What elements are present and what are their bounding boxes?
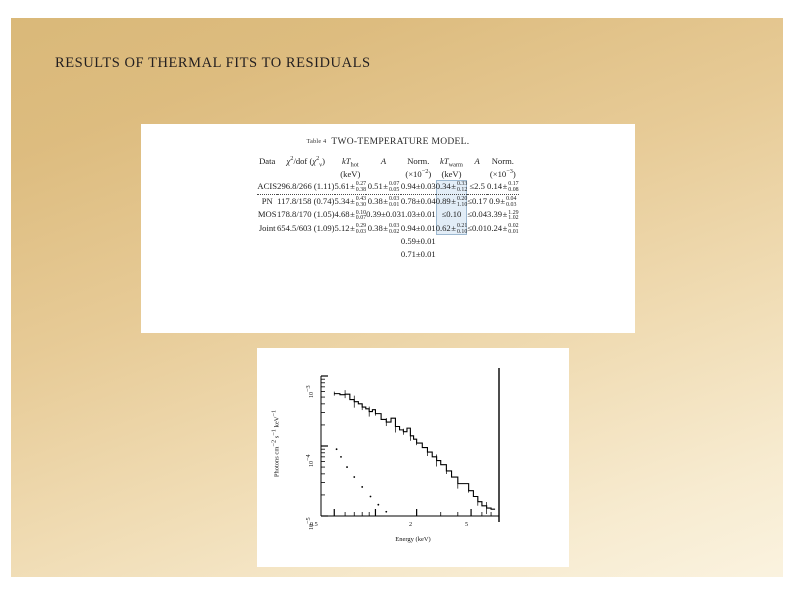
cell-norm-hot-extra: 0.71±0.01 [401,248,436,261]
cell-kt-hot: 5.34±0.430.30 [335,194,367,208]
cell-chi2: 178.8/170 (1.05) [277,208,335,222]
cell-empty [257,235,277,248]
table-separator-row: PN 117.8/158 (0.74) 5.34±0.430.30 0.38±0… [257,194,518,208]
page-margin-top [0,0,794,18]
page-margin-right [783,0,794,595]
cell-a-hot: 0.39±0.03 [366,208,401,222]
cell-kt-warm: 0.89±0.201.10 [436,194,468,208]
cell-kt-warm: 0.62±0.210.10 [436,222,468,236]
table-caption: Table 4TWO-TEMPERATURE MODEL. [141,131,635,149]
cell-empty [277,235,335,248]
spectrum-chart [257,348,569,567]
chart-xtick-1: 2 [409,521,412,528]
col-header-norm-warm-unit: (×10−3) [487,168,519,181]
table-row: MOS 178.8/170 (1.05) 4.68±0.100.07 0.39±… [257,208,518,222]
cell-data: ACIS [257,180,277,194]
cell-empty [277,248,335,261]
col-header-kt-warm: kTwarm (keV) [436,155,468,180]
cell-norm-hot-extra: 0.59±0.01 [401,235,436,248]
cell-a-warm: ≤0.04 [467,208,487,222]
col-header-norm-hot: Norm. (×10−2) [401,155,436,180]
cell-data: Joint [257,222,277,236]
cell-kt-warm: 0.34±0.330.12 [436,180,468,194]
chart-xlabel: Energy (keV) [257,536,569,543]
cell-empty [257,248,277,261]
cell-chi2: 296.8/266 (1.11) [277,180,335,194]
cell-a-hot: 0.38±0.030.01 [366,194,401,208]
col-header-kt-hot: kThot (keV) [335,155,367,180]
cell-norm-hot: 0.78±0.04 [401,194,436,208]
cell-a-hot: 0.51±0.070.05 [366,180,401,194]
cell-a-warm: ≤0.17 [467,194,487,208]
cell-empty [467,248,487,261]
page-margin-bottom [0,577,794,595]
cell-norm-hot: 0.94±0.01 [401,222,436,236]
spectrum-plot-figure: Photons cm−2 s−1 keV−1 Energy (keV) 10−3… [257,348,569,567]
cell-a-warm: ≤2.5 [467,180,487,194]
table-extra-row: 0.59±0.01 [257,235,518,248]
table-caption-title: TWO-TEMPERATURE MODEL. [331,137,469,147]
cell-norm-warm: 3.39±1.291.02 [487,208,519,222]
cell-empty [436,248,468,261]
chart-ytick-2: 10−4 [309,454,315,467]
table-row: Joint 654.5/603 (1.09) 5.12±0.290.03 0.3… [257,222,518,236]
table-row: ACIS 296.8/266 (1.11) 5.61±0.270.38 0.51… [257,180,518,194]
cell-kt-hot: 4.68±0.100.07 [335,208,367,222]
cell-empty [366,248,401,261]
plot-inner: Photons cm−2 s−1 keV−1 Energy (keV) 10−3… [257,348,569,567]
col-header-a-warm: A [467,155,487,180]
slide-canvas: RESULTS OF THERMAL FITS TO RESIDUALS Tab… [0,0,794,595]
cell-norm-warm: 0.9±0.040.03 [487,194,519,208]
cell-chi2: 654.5/603 (1.09) [277,222,335,236]
cell-empty [436,235,468,248]
table-caption-label: Table 4 [307,139,327,145]
chart-xtick-2: 5 [465,521,468,528]
cell-data: PN [257,194,277,208]
cell-norm-hot: 1.03±0.01 [401,208,436,222]
two-temperature-model-table: Data χ2/dof (χ2ν) kThot (keV) A [257,155,518,261]
cell-kt-hot: 5.12±0.290.03 [335,222,367,236]
chart-ytick-1: 10−3 [309,385,315,398]
cell-chi2: 117.8/158 (0.74) [277,194,335,208]
chart-xtick-0: 0.5 [310,521,318,528]
table-figure-image: Table 4TWO-TEMPERATURE MODEL. Data χ2/do… [141,124,635,333]
col-header-a-hot: A [366,155,401,180]
cell-empty [487,248,519,261]
cell-norm-warm: 0.14±0.170.08 [487,180,519,194]
cell-data: MOS [257,208,277,222]
cell-empty [335,248,367,261]
cell-empty [467,235,487,248]
cell-norm-warm: 0.24±0.020.01 [487,222,519,236]
cell-kt-hot: 5.61±0.270.38 [335,180,367,194]
cell-empty [487,235,519,248]
col-header-data: Data [257,155,277,180]
table-header-row: Data χ2/dof (χ2ν) kThot (keV) A [257,155,518,180]
cell-empty [366,235,401,248]
col-header-chi2: χ2/dof (χ2ν) [277,155,335,180]
cell-kt-warm: ≤0.10 [436,208,468,222]
col-header-norm-hot-unit: (×10−2) [401,168,436,181]
cell-norm-hot: 0.94±0.03 [401,180,436,194]
table-extra-row: 0.71±0.01 [257,248,518,261]
cell-a-hot: 0.38±0.030.02 [366,222,401,236]
chart-ylabel: Photons cm−2 s−1 keV−1 [274,384,281,504]
cell-empty [335,235,367,248]
cell-a-warm: ≤0.01 [467,222,487,236]
page-margin-left [0,0,11,595]
col-header-norm-warm: Norm. (×10−3) [487,155,519,180]
page-title: RESULTS OF THERMAL FITS TO RESIDUALS [55,55,371,72]
